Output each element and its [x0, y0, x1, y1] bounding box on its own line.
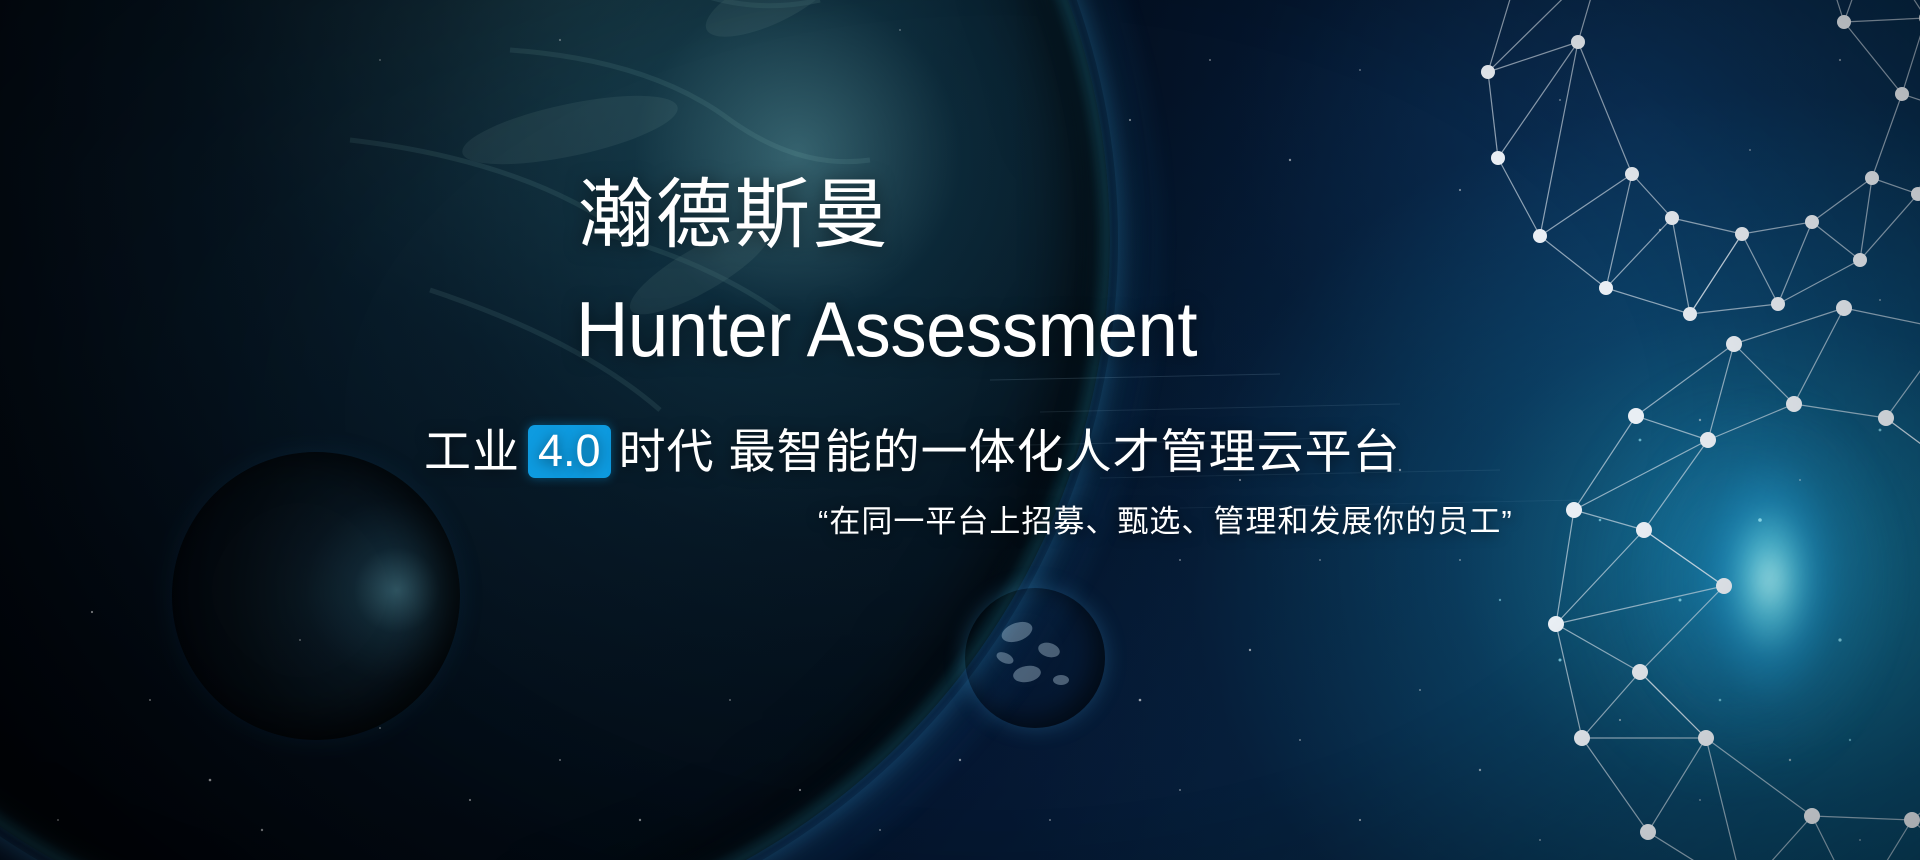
hero-banner: 瀚德斯曼 Hunter Assessment 工业 4.0 时代 最智能的一体化… — [0, 0, 1920, 860]
hero-quote: “在同一平台上招募、甄选、管理和发展你的员工” — [818, 506, 1513, 537]
tagline-after: 时代 最智能的一体化人才管理云平台 — [619, 428, 1401, 475]
tagline-before: 工业 — [424, 428, 520, 475]
tagline: 工业 4.0 时代 最智能的一体化人才管理云平台 — [424, 425, 1401, 478]
brand-title-en: Hunter Assessment — [576, 290, 1197, 368]
hero-copy: 瀚德斯曼 Hunter Assessment 工业 4.0 时代 最智能的一体化… — [0, 0, 1920, 860]
brand-title-cn: 瀚德斯曼 — [578, 178, 890, 254]
industry-version-badge: 4.0 — [528, 425, 611, 478]
